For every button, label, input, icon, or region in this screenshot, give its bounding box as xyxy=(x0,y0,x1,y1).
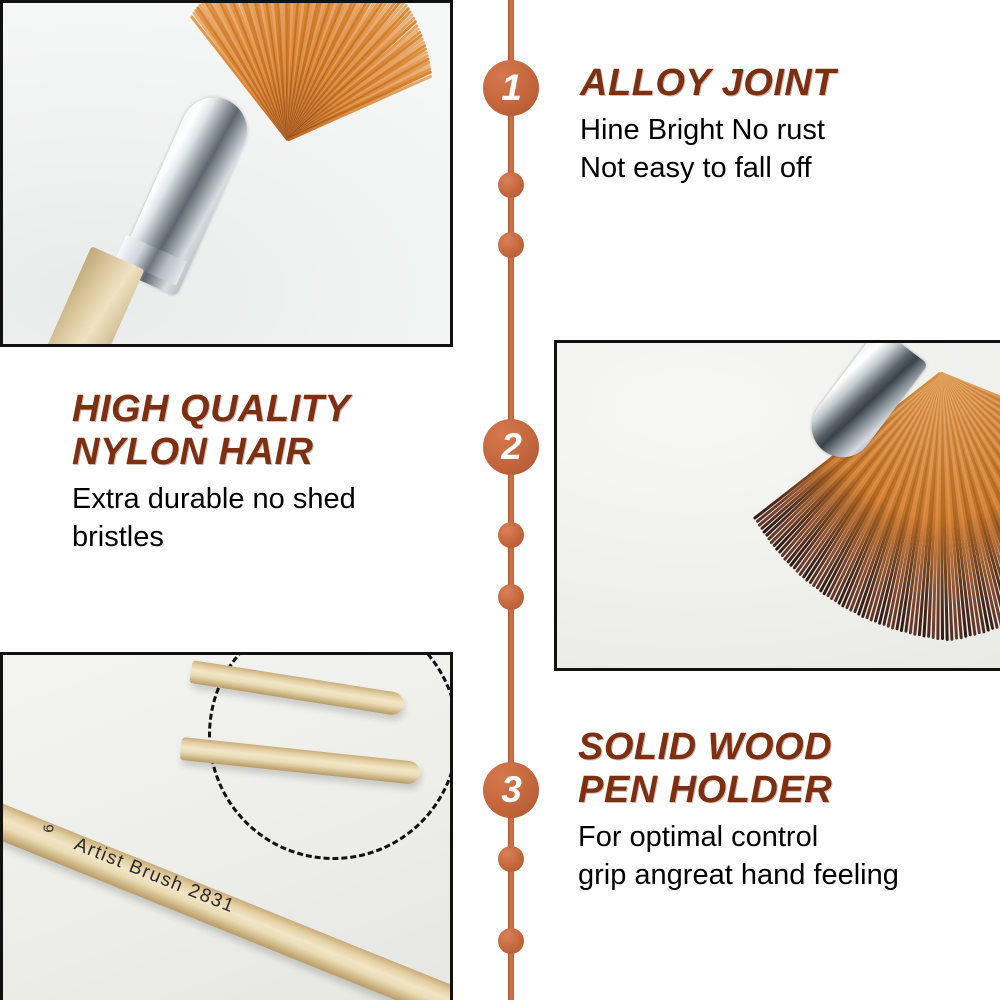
timeline-dot-6 xyxy=(498,928,524,954)
feature-description-alloy-joint: Hine Bright No rust Not easy to fall off xyxy=(580,112,980,187)
feature-title-alloy-joint: ALLOY JOINT xyxy=(580,62,980,105)
feature-block-alloy-joint: ALLOY JOINT Hine Bright No rust Not easy… xyxy=(580,62,980,187)
infographic-page: 6 Artist Brush 2831 1 2 3 ALLOY JOINT Hi… xyxy=(0,0,1000,1000)
timeline-dot-5 xyxy=(498,846,524,872)
handle-size-marking: 6 xyxy=(41,824,58,832)
feature-description-nylon-hair: Extra durable no shed bristles xyxy=(72,481,492,556)
timeline-dot-3 xyxy=(498,522,524,548)
timeline-marker-1-number: 1 xyxy=(501,69,521,106)
photo-alloy-joint-closeup xyxy=(0,0,453,347)
timeline-marker-1[interactable]: 1 xyxy=(483,60,539,116)
photo-wood-pen-holder: 6 Artist Brush 2831 xyxy=(0,652,453,1000)
feature-block-nylon-hair: HIGH QUALITY NYLON HAIR Extra durable no… xyxy=(72,388,492,556)
feature-description-pen-holder: For optimal control grip angreat hand fe… xyxy=(578,819,998,894)
timeline-dot-1 xyxy=(498,172,524,198)
feature-title-pen-holder: SOLID WOOD PEN HOLDER xyxy=(578,726,998,812)
timeline-marker-3-number: 3 xyxy=(501,771,521,808)
photo-nylon-hair-fan xyxy=(554,340,1000,671)
feature-block-pen-holder: SOLID WOOD PEN HOLDER For optimal contro… xyxy=(578,726,998,894)
timeline-dot-2 xyxy=(498,232,524,258)
timeline-marker-3[interactable]: 3 xyxy=(483,762,539,818)
feature-title-nylon-hair: HIGH QUALITY NYLON HAIR xyxy=(72,388,492,474)
timeline-marker-2-number: 2 xyxy=(501,428,521,465)
timeline-dot-4 xyxy=(498,584,524,610)
